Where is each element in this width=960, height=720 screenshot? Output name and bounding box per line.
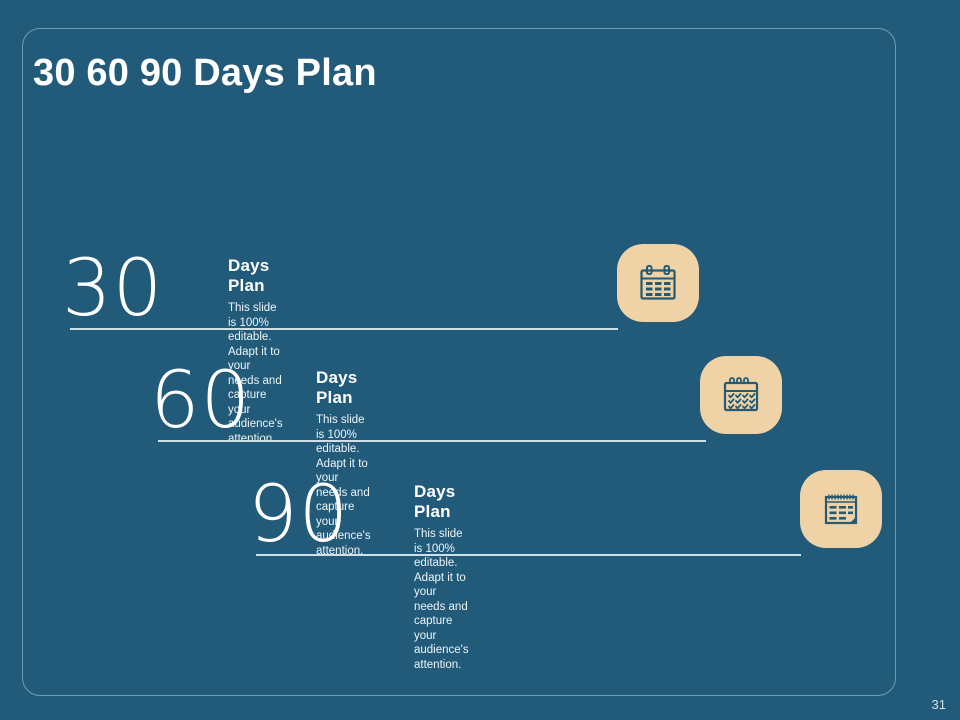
notepad-pencil-icon <box>820 488 862 530</box>
plan-number-60: 60 <box>150 362 251 440</box>
plan-number-30: 30 <box>62 250 163 328</box>
calendar-check-icon <box>720 374 762 416</box>
plan-rule-30 <box>70 328 618 330</box>
plan-icon-box-90[interactable] <box>800 470 882 548</box>
plan-heading-30: Days Plan <box>228 256 283 296</box>
plan-icon-box-30[interactable] <box>617 244 699 322</box>
plan-rule-90 <box>256 554 801 556</box>
slide-canvas: 30 60 90 Days Plan 30 Days Plan This sli… <box>0 0 960 720</box>
plan-heading-90: Days Plan <box>414 482 469 522</box>
plan-body-90: This slide is 100% editable. Adapt it to… <box>414 527 469 672</box>
page-title: 30 60 90 Days Plan <box>33 52 377 95</box>
calendar-icon <box>637 262 679 304</box>
plan-rule-60 <box>158 440 706 442</box>
plan-icon-box-60[interactable] <box>700 356 782 434</box>
plan-number-90: 90 <box>248 476 349 554</box>
plan-heading-60: Days Plan <box>316 368 371 408</box>
plan-text-block-90: Days Plan This slide is 100% editable. A… <box>414 482 469 672</box>
page-number: 31 <box>932 697 946 712</box>
